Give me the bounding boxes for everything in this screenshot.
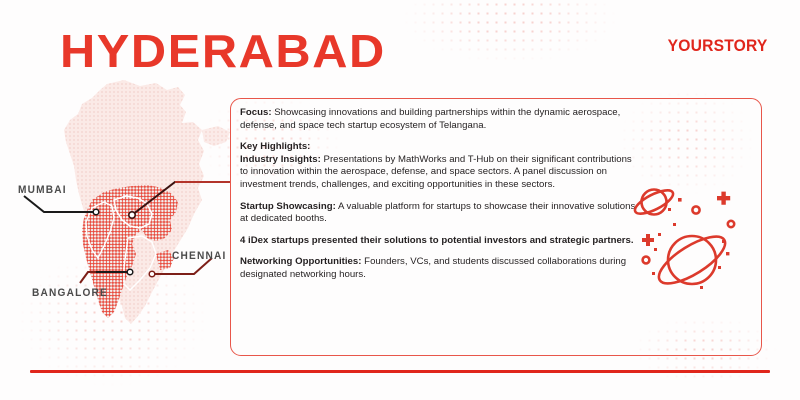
india-map xyxy=(52,78,257,343)
map-city-label-bangalore: BANGALORE xyxy=(32,287,108,299)
content-card-body: Focus: Showcasing innovations and buildi… xyxy=(240,107,640,282)
networking-label: Networking Opportunities: xyxy=(240,256,362,267)
poster-canvas: HYDERABAD YOURSTORY xyxy=(0,0,800,400)
focus-label: Focus: xyxy=(240,107,272,118)
page-title: HYDERABAD xyxy=(60,28,386,74)
startup-showcasing-paragraph: Startup Showcasing: A valuable platform … xyxy=(240,201,640,226)
bottom-divider xyxy=(30,370,770,373)
focus-text: Showcasing innovations and building part… xyxy=(240,107,620,131)
idex-startups-paragraph: 4 iDex startups presented their solution… xyxy=(240,235,640,248)
map-city-label-chennai: CHENNAI xyxy=(172,250,226,262)
saturn-planet-icon xyxy=(632,180,742,300)
industry-insights-paragraph: Industry Insights: Presentations by Math… xyxy=(240,154,640,192)
startup-showcasing-label: Startup Showcasing: xyxy=(240,201,336,212)
yourstory-logo: YOURSTORY xyxy=(668,36,768,56)
key-highlights-heading: Key Highlights: xyxy=(240,141,640,154)
industry-insights-label: Industry Insights: xyxy=(240,154,321,165)
focus-paragraph: Focus: Showcasing innovations and buildi… xyxy=(240,107,640,132)
map-city-label-mumbai: MUMBAI xyxy=(18,184,67,196)
networking-paragraph: Networking Opportunities: Founders, VCs,… xyxy=(240,256,640,281)
